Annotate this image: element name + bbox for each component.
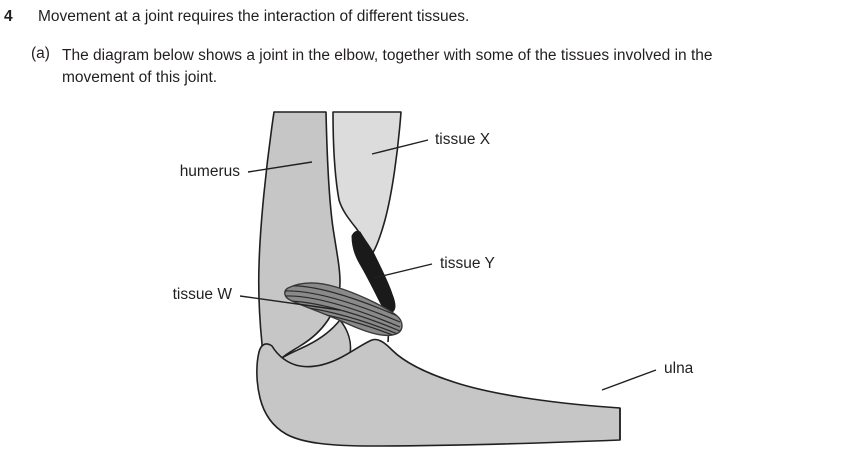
label-tissue-y: tissue Y [440,255,495,272]
part-label-a: (a) [31,45,50,63]
label-tissue-x: tissue X [435,131,491,148]
label-humerus: humerus [180,163,241,180]
question-stem: Movement at a joint requires the interac… [38,8,469,26]
label-tissue-w: tissue W [173,286,233,303]
question-number: 4 [4,8,13,26]
part-a-text: The diagram below shows a joint in the e… [62,45,762,89]
exam-question-page: 4 Movement at a joint requires the inter… [0,0,865,456]
label-ulna: ulna [664,360,694,377]
elbow-joint-diagram: humerus tissue X tissue Y tissue W ulna [0,96,865,456]
leader-line-ulna [602,370,656,390]
tissue-x-shape [333,112,401,254]
